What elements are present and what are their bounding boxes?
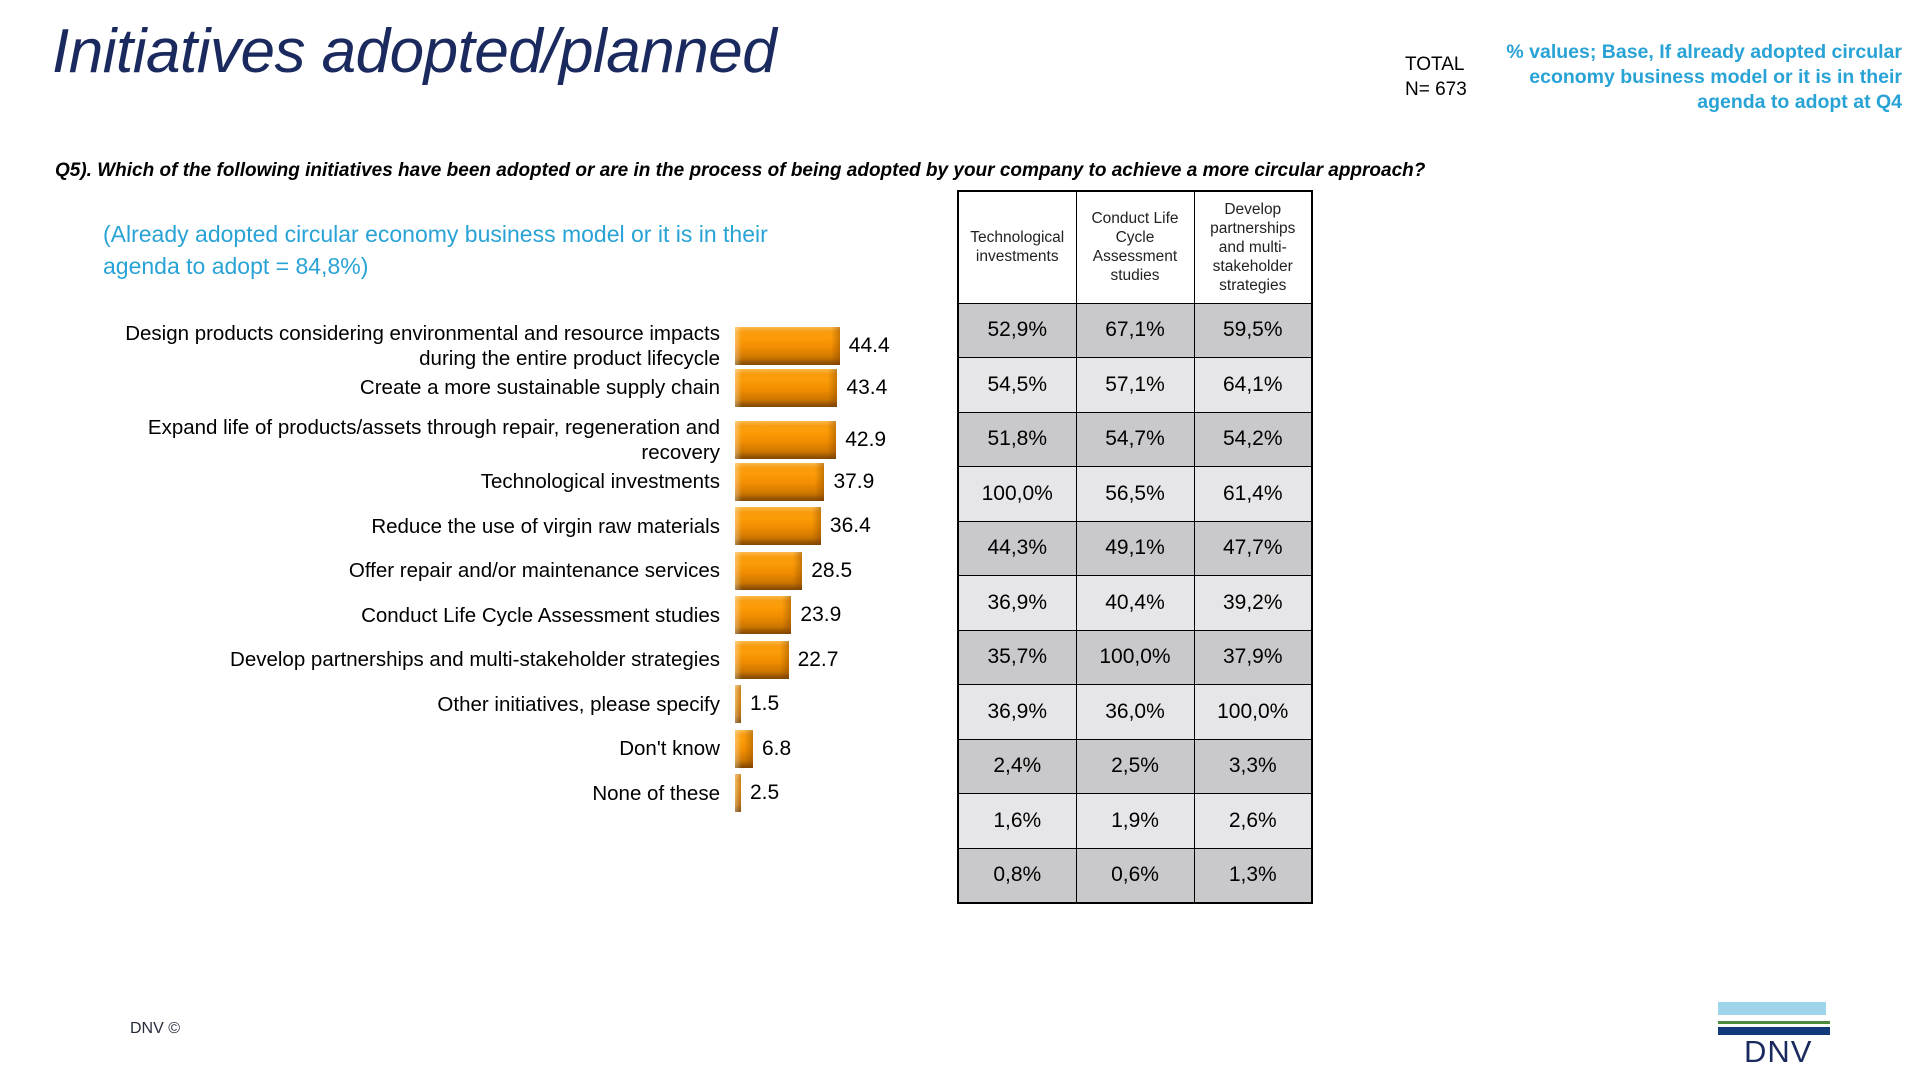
bar-category-label: Technological investments [80,469,735,494]
bar-value-label: 6.8 [762,737,791,761]
chart-row: Reduce the use of virgin raw materials36… [80,506,960,546]
bar-value-label: 43.4 [846,376,887,400]
chart-row: Offer repair and/or maintenance services… [80,551,960,591]
crosstab-cell: 59,5% [1194,303,1312,358]
bar-value-label: 36.4 [830,514,871,538]
table-row: 35,7%100,0%37,9% [958,630,1312,685]
crosstab-cell: 54,7% [1076,412,1194,467]
crosstab-cell: 2,5% [1076,739,1194,794]
crosstab-body: 52,9%67,1%59,5%54,5%57,1%64,1%51,8%54,7%… [958,303,1312,903]
crosstab-cell: 51,8% [958,412,1076,467]
crosstab-cell: 2,6% [1194,794,1312,849]
bar-value-label: 1.5 [750,692,779,716]
chart-row: Don't know6.8 [80,729,960,769]
footer-copyright: DNV © [130,1020,180,1038]
bar [735,463,824,501]
crosstab-cell: 49,1% [1076,521,1194,576]
crosstab-cell: 61,4% [1194,467,1312,522]
crosstab-cell: 56,5% [1076,467,1194,522]
bar-zone: 28.5 [735,551,960,591]
crosstab-cell: 3,3% [1194,739,1312,794]
bar-zone: 6.8 [735,729,960,769]
bar [735,507,821,545]
chart-row: None of these2.5 [80,773,960,813]
bar-category-label: Develop partnerships and multi-stakehold… [80,647,735,672]
bar-zone: 22.7 [735,640,960,680]
table-row: 44,3%49,1%47,7% [958,521,1312,576]
chart-row: Design products considering environmenta… [80,318,960,373]
bar-zone: 23.9 [735,595,960,635]
bar-value-label: 42.9 [845,428,886,452]
table-row: 0,8%0,6%1,3% [958,848,1312,903]
bar-category-label: Reduce the use of virgin raw materials [80,514,735,539]
bar-zone: 36.4 [735,506,960,546]
crosstab-header: Technological investmentsConduct Life Cy… [958,191,1312,303]
page-title: Initiatives adopted/planned [52,16,776,87]
bar-category-label: Design products considering environmenta… [80,321,735,371]
crosstab-cell: 36,9% [958,685,1076,740]
table-row: 2,4%2,5%3,3% [958,739,1312,794]
table-row: 52,9%67,1%59,5% [958,303,1312,358]
crosstab-cell: 1,9% [1076,794,1194,849]
crosstab-cell: 40,4% [1076,576,1194,631]
crosstab-cell: 1,3% [1194,848,1312,903]
bar-value-label: 23.9 [800,603,841,627]
bar [735,369,837,407]
crosstab-header-row: Technological investmentsConduct Life Cy… [958,191,1312,303]
crosstab-cell: 64,1% [1194,358,1312,413]
bar-zone: 37.9 [735,462,960,502]
bar [735,552,802,590]
crosstab-cell: 39,2% [1194,576,1312,631]
crosstab-cell: 44,3% [958,521,1076,576]
bar-category-label: Offer repair and/or maintenance services [80,558,735,583]
logo-bar-green [1718,1021,1830,1024]
logo-bar-light-blue [1718,1002,1826,1015]
bar [735,596,791,634]
chart-row: Other initiatives, please specify1.5 [80,684,960,724]
bar-zone: 43.4 [735,368,960,408]
adoption-note: (Already adopted circular economy busine… [103,218,833,282]
crosstab-cell: 100,0% [958,467,1076,522]
bar-category-label: Other initiatives, please specify [80,692,735,717]
chart-row: Expand life of products/assets through r… [80,412,960,467]
bar-zone: 44.4 [735,326,960,366]
bar-category-label: Create a more sustainable supply chain [80,375,735,400]
table-row: 100,0%56,5%61,4% [958,467,1312,522]
bar-chart: Design products considering environmenta… [80,318,960,908]
crosstab-column-header: Conduct Life Cycle Assessment studies [1076,191,1194,303]
chart-row: Technological investments37.9 [80,462,960,502]
bar-category-label: Expand life of products/assets through r… [80,415,735,465]
bar [735,641,789,679]
crosstab-cell: 100,0% [1076,630,1194,685]
chart-row: Create a more sustainable supply chain43… [80,368,960,408]
crosstab-cell: 54,2% [1194,412,1312,467]
bar-value-label: 28.5 [811,559,852,583]
crosstab-table: Technological investmentsConduct Life Cy… [957,190,1313,904]
crosstab-cell: 0,8% [958,848,1076,903]
chart-row: Develop partnerships and multi-stakehold… [80,640,960,680]
crosstab-cell: 35,7% [958,630,1076,685]
crosstab-column-header: Develop partnerships and multi-stakehold… [1194,191,1312,303]
crosstab-cell: 36,0% [1076,685,1194,740]
crosstab-cell: 47,7% [1194,521,1312,576]
crosstab-column-header: Technological investments [958,191,1076,303]
bar-value-label: 37.9 [833,470,874,494]
crosstab-cell: 1,6% [958,794,1076,849]
bar [735,730,753,768]
dnv-logo: DNV [1718,1002,1842,1064]
bar-value-label: 2.5 [750,781,779,805]
bar-category-label: Conduct Life Cycle Assessment studies [80,603,735,628]
bar-zone: 1.5 [735,684,960,724]
bar-category-label: Don't know [80,736,735,761]
crosstab-cell: 2,4% [958,739,1076,794]
table-row: 36,9%36,0%100,0% [958,685,1312,740]
chart-row: Conduct Life Cycle Assessment studies23.… [80,595,960,635]
crosstab-cell: 37,9% [1194,630,1312,685]
bar-zone: 42.9 [735,420,960,460]
logo-text: DNV [1744,1034,1812,1070]
crosstab-cell: 67,1% [1076,303,1194,358]
crosstab-cell: 54,5% [958,358,1076,413]
bar-category-label: None of these [80,781,735,806]
bar [735,421,836,459]
crosstab-cell: 52,9% [958,303,1076,358]
bar [735,685,741,723]
question-text: Q5). Which of the following initiatives … [55,160,1425,182]
crosstab-cell: 57,1% [1076,358,1194,413]
table-row: 36,9%40,4%39,2% [958,576,1312,631]
crosstab-cell: 100,0% [1194,685,1312,740]
bar-value-label: 22.7 [798,648,839,672]
table-row: 51,8%54,7%54,2% [958,412,1312,467]
bar-value-label: 44.4 [849,334,890,358]
table-row: 54,5%57,1%64,1% [958,358,1312,413]
base-note: % values; Base, If already adopted circu… [1502,40,1902,115]
bar-zone: 2.5 [735,773,960,813]
table-row: 1,6%1,9%2,6% [958,794,1312,849]
bar [735,327,840,365]
crosstab-cell: 0,6% [1076,848,1194,903]
crosstab-cell: 36,9% [958,576,1076,631]
bar [735,774,741,812]
